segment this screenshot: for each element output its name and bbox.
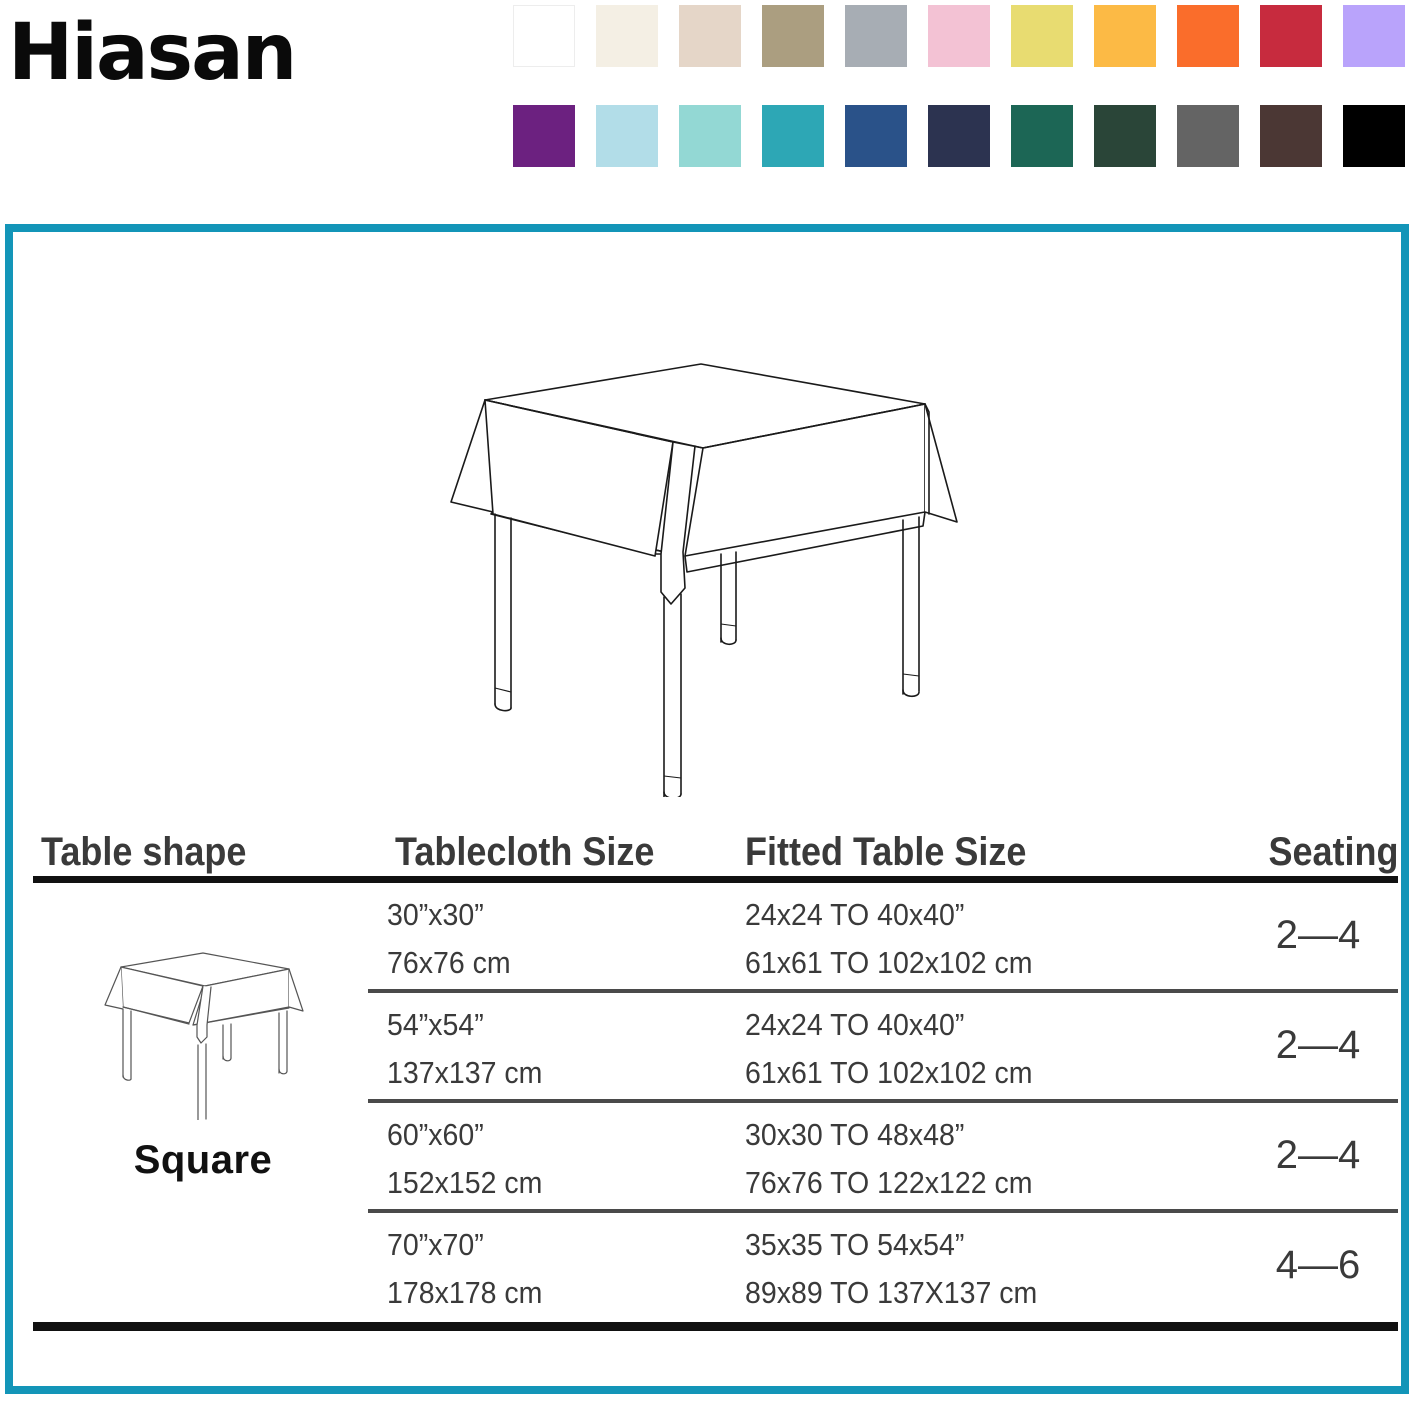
color-swatch-lavender[interactable]	[1343, 5, 1405, 67]
seating-value: 2—4	[1238, 1135, 1398, 1175]
table-row: 30”x30”76x76 cm24x24 TO 40x40”61x61 TO 1…	[33, 883, 1398, 993]
color-swatch-emerald[interactable]	[1011, 105, 1073, 167]
fitted-table-size-inches: 35x35 TO 54x54”	[745, 1229, 964, 1260]
color-swatch-taupe[interactable]	[762, 5, 824, 67]
color-swatch-white[interactable]	[513, 5, 575, 67]
color-swatch-teal[interactable]	[762, 105, 824, 167]
tablecloth-size-inches: 30”x30”	[387, 899, 484, 930]
color-swatch-purple[interactable]	[513, 105, 575, 167]
row-divider	[33, 1322, 1398, 1331]
color-swatch-dark-grey[interactable]	[1177, 105, 1239, 167]
swatch-row-2	[513, 105, 1413, 167]
tablecloth-size-inches: 54”x54”	[387, 1009, 484, 1040]
color-swatch-forest-green[interactable]	[1094, 105, 1156, 167]
tablecloth-size-inches: 60”x60”	[387, 1119, 484, 1150]
fitted-table-size-cm: 76x76 TO 122x122 cm	[745, 1167, 1033, 1198]
swatch-row-1	[513, 5, 1413, 67]
tablecloth-size-cm: 178x178 cm	[387, 1277, 542, 1308]
fitted-table-size-inches: 24x24 TO 40x40”	[745, 1009, 964, 1040]
table-header-row: Table shape Tablecloth Size Fitted Table…	[33, 810, 1398, 872]
table-row: 54”x54”137x137 cm24x24 TO 40x40”61x61 TO…	[33, 993, 1398, 1103]
fitted-table-size-inches: 24x24 TO 40x40”	[745, 899, 964, 930]
color-swatch-light-blue[interactable]	[596, 105, 658, 167]
color-swatch-yellow[interactable]	[1011, 5, 1073, 67]
column-header-seating: Seating	[1268, 832, 1398, 872]
fitted-table-size-cm: 61x61 TO 102x102 cm	[745, 1057, 1033, 1088]
tablecloth-size-cm: 152x152 cm	[387, 1167, 542, 1198]
table-rows: 30”x30”76x76 cm24x24 TO 40x40”61x61 TO 1…	[33, 883, 1398, 1323]
fitted-table-size-inches: 30x30 TO 48x48”	[745, 1119, 964, 1150]
color-swatch-grid	[513, 5, 1413, 167]
color-swatch-beige[interactable]	[679, 5, 741, 67]
color-swatch-aqua[interactable]	[679, 105, 741, 167]
table-row: 60”x60”152x152 cm30x30 TO 48x48”76x76 TO…	[33, 1103, 1398, 1213]
color-swatch-amber[interactable]	[1094, 5, 1156, 67]
size-chart-table: Table shape Tablecloth Size Fitted Table…	[33, 810, 1398, 1323]
table-body: Square 30”x30”76x76 cm24x24 TO 40x40”61x…	[33, 883, 1398, 1323]
tablecloth-size-cm: 137x137 cm	[387, 1057, 542, 1088]
column-header-table-shape: Table shape	[41, 832, 246, 872]
brand-logo: Hiasan	[8, 14, 295, 92]
square-tablecloth-illustration	[433, 342, 993, 797]
color-swatch-pink[interactable]	[928, 5, 990, 67]
size-guide-panel: Table shape Tablecloth Size Fitted Table…	[5, 224, 1409, 1394]
column-header-fitted-table-size: Fitted Table Size	[745, 832, 1026, 872]
color-swatch-navy[interactable]	[928, 105, 990, 167]
color-swatch-orange[interactable]	[1177, 5, 1239, 67]
color-swatch-grey[interactable]	[845, 5, 907, 67]
seating-value: 4—6	[1238, 1245, 1398, 1285]
color-swatch-ivory[interactable]	[596, 5, 658, 67]
tablecloth-size-inches: 70”x70”	[387, 1229, 484, 1260]
fitted-table-size-cm: 89x89 TO 137X137 cm	[745, 1277, 1037, 1308]
seating-value: 2—4	[1238, 915, 1398, 955]
color-swatch-denim-blue[interactable]	[845, 105, 907, 167]
table-row: 70”x70”178x178 cm35x35 TO 54x54”89x89 TO…	[33, 1213, 1398, 1323]
header-divider	[33, 876, 1398, 883]
color-swatch-dark-brown[interactable]	[1260, 105, 1322, 167]
seating-value: 2—4	[1238, 1025, 1398, 1065]
fitted-table-size-cm: 61x61 TO 102x102 cm	[745, 947, 1033, 978]
tablecloth-size-cm: 76x76 cm	[387, 947, 511, 978]
header-band: Hiasan	[0, 0, 1416, 200]
color-swatch-black[interactable]	[1343, 105, 1405, 167]
column-header-tablecloth-size: Tablecloth Size	[395, 832, 654, 872]
color-swatch-red[interactable]	[1260, 5, 1322, 67]
